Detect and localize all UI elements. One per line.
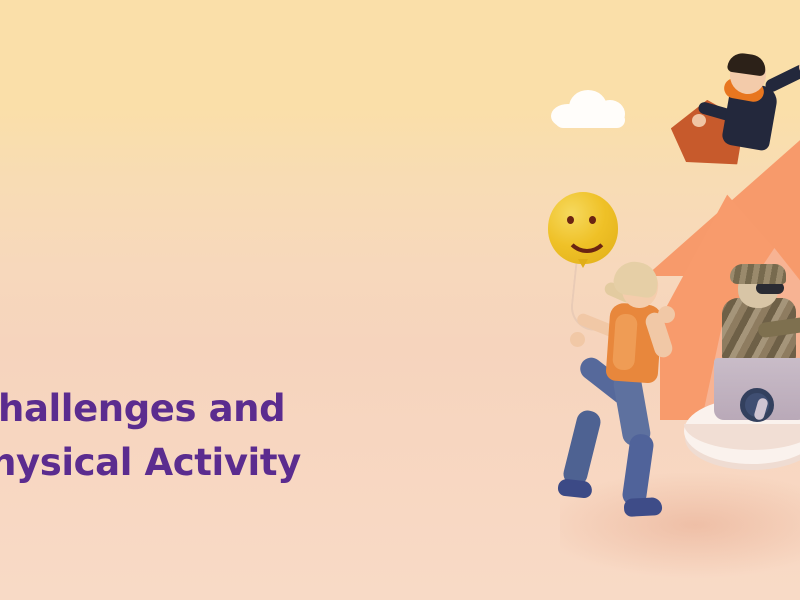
smiley-balloon-icon	[548, 192, 618, 264]
cloud-icon	[551, 88, 633, 128]
running-girl-figure	[562, 262, 692, 528]
headline-line-2: and	[0, 161, 410, 288]
banner-headline: t & and	[0, 34, 410, 287]
girl-shirt-highlight	[612, 313, 638, 370]
girl-front-hand	[658, 306, 675, 323]
camo-cap	[730, 264, 786, 284]
girl-front-shin	[621, 433, 655, 508]
girl-back-shoe	[557, 478, 593, 498]
girl-hair	[612, 259, 660, 299]
promotional-banner: t & and ed Challenges and or Physical Ac…	[0, 0, 800, 600]
boy-left-hand	[692, 114, 706, 127]
banner-subheading: ed Challenges and or Physical Activity	[0, 382, 468, 489]
cart-wheel	[740, 388, 774, 422]
girl-back-shin	[561, 408, 603, 488]
subheading-line-1: ed Challenges and	[0, 387, 285, 430]
boy-with-cape-figure	[672, 56, 800, 182]
girl-back-hand	[570, 332, 585, 347]
text-layer: t & and ed Challenges and or Physical Ac…	[0, 0, 420, 600]
child-in-toy-cart-figure	[712, 262, 800, 422]
boy-right-arm	[763, 63, 800, 94]
girl-front-shoe	[624, 497, 663, 517]
subheading-line-2: or Physical Activity	[0, 436, 468, 490]
